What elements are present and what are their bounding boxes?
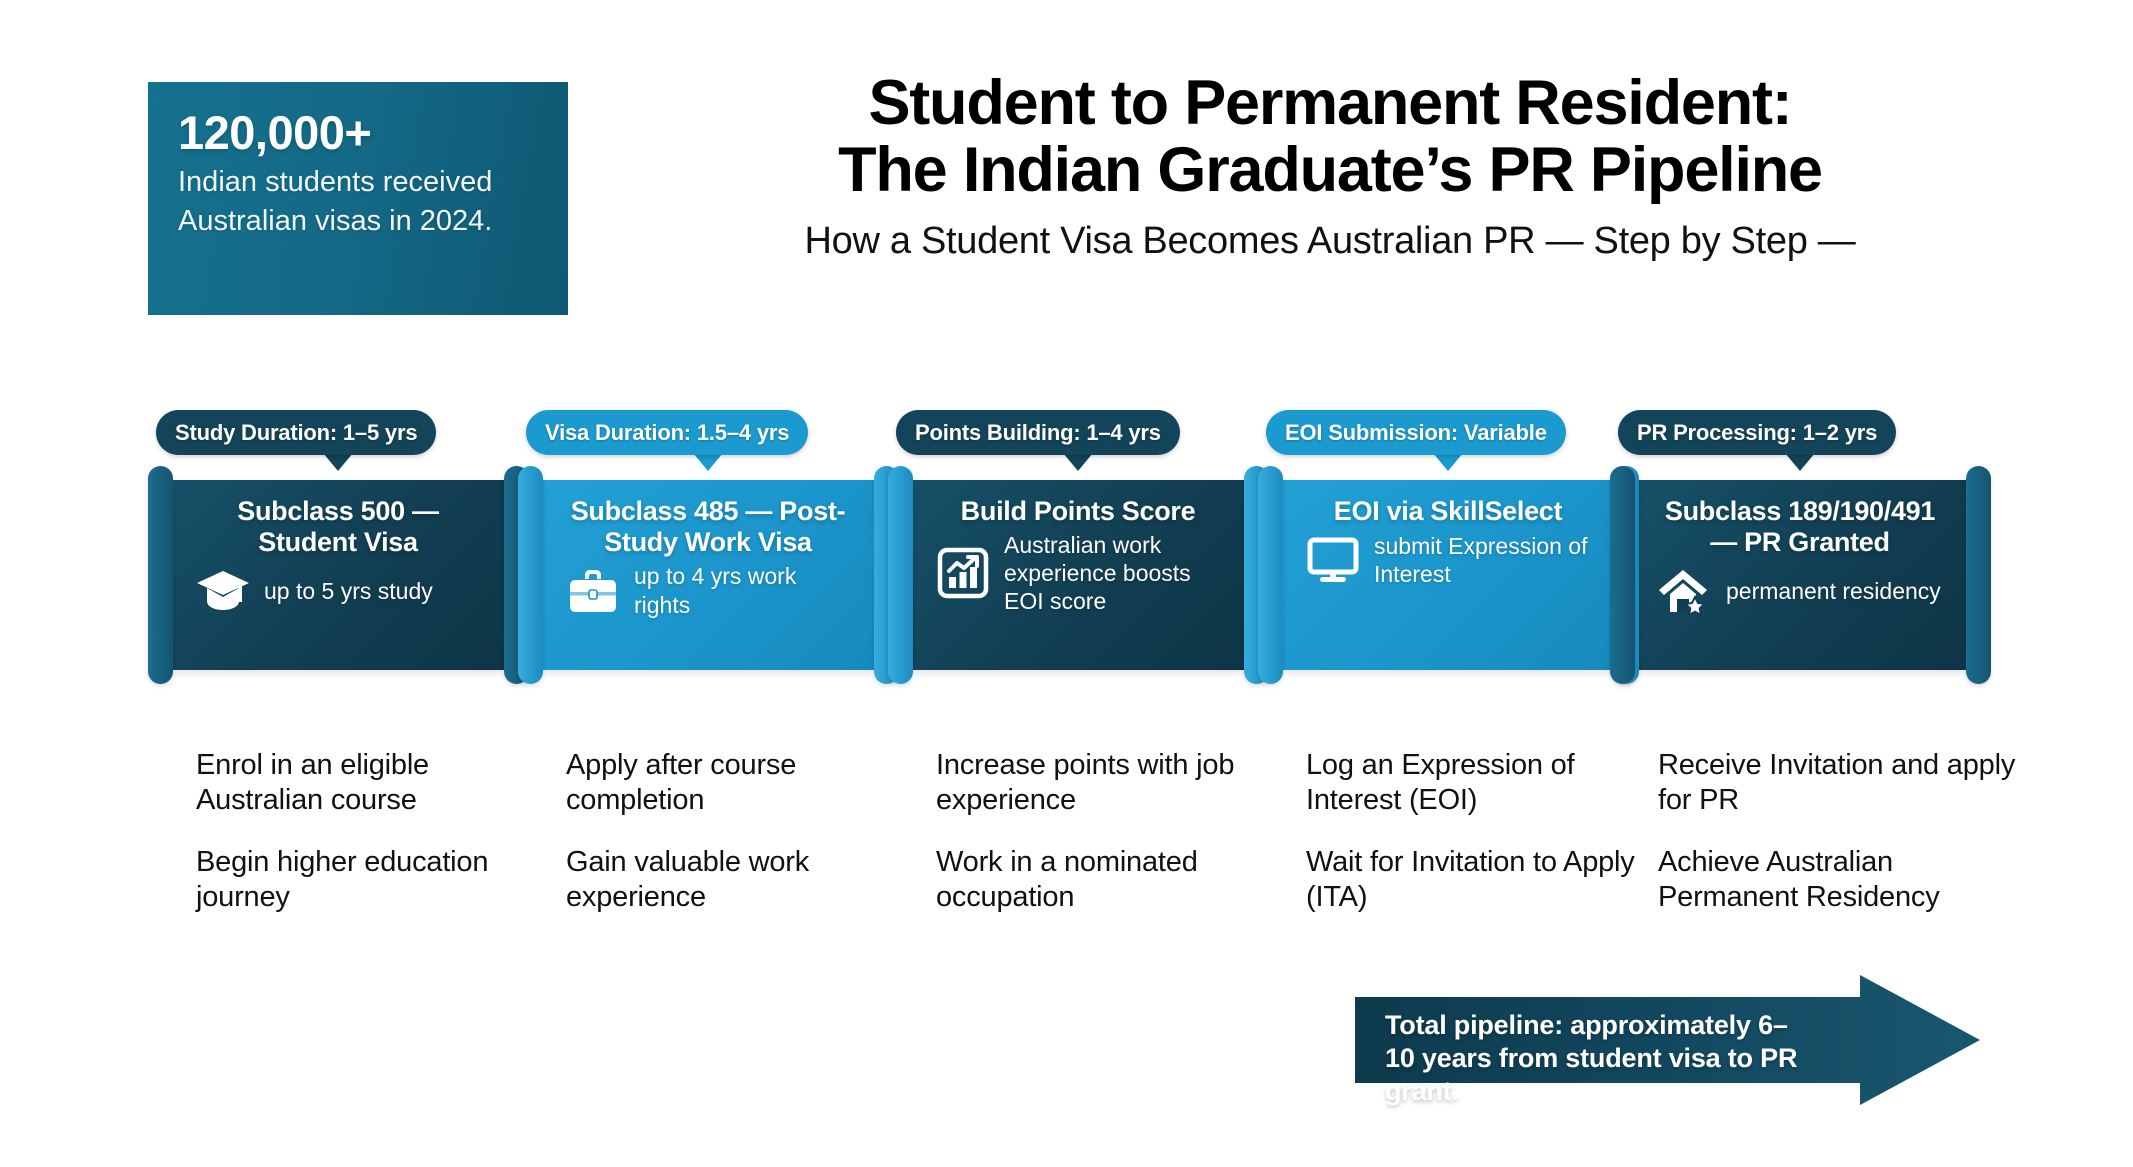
bar-chart-trend-icon [934,544,992,602]
title-block: Student to Permanent Resident: The India… [640,70,2020,264]
step-post-left [888,466,913,684]
step-duration-badge-label: Study Duration: 1–5 yrs [175,420,417,446]
step-card-detail: up to 4 yrs work rights [558,562,858,620]
step-card-detail: Australian work experience boosts EOI sc… [928,531,1228,615]
description-line-first: Increase points with job experience [936,748,1266,819]
step-duration-badge-label: PR Processing: 1–2 yrs [1637,420,1877,446]
step-card-subtext: up to 5 yrs study [264,577,433,605]
step-post-left [1258,466,1283,684]
step-description-column-2: Apply after course completion Gain valua… [566,748,896,916]
step-description-column-5: Receive Invitation and apply for PR Achi… [1658,748,2018,916]
page-title-line-2: The Indian Graduate’s PR Pipeline [640,137,2020,204]
step-card: Subclass 485 — Post-Study Work Visa up t… [542,480,874,670]
step-duration-badge-label: EOI Submission: Variable [1285,420,1547,446]
pipeline-step-3: Points Building: 1–4 yrs Build Points Sc… [888,410,1268,750]
briefcase-icon [564,562,622,620]
pipeline-step-5: PR Processing: 1–2 yrs Subclass 189/190/… [1610,410,1990,750]
page-subtitle: How a Student Visa Becomes Australian PR… [640,219,2020,265]
step-duration-badge-label: Points Building: 1–4 yrs [915,420,1161,446]
step-description-column-3: Increase points with job experience Work… [936,748,1266,916]
step-duration-badge: PR Processing: 1–2 yrs [1618,410,1896,455]
step-duration-badge: Visa Duration: 1.5–4 yrs [526,410,808,455]
pipeline-step-2: Visa Duration: 1.5–4 yrs Subclass 485 — … [518,410,898,750]
step-card: Subclass 189/190/491 — PR Granted perman… [1634,480,1966,670]
description-line-first: Receive Invitation and apply for PR [1658,748,2018,819]
description-line-first: Enrol in an eligible Australian course [196,748,526,819]
total-pipeline-text: Total pipeline: approximately 6–10 years… [1385,1009,1815,1108]
header: 120,000+ Indian students received Austra… [0,0,2133,330]
description-line-second: Gain valuable work experience [566,845,896,916]
step-post-left [148,466,173,684]
step-duration-badge: Points Building: 1–4 yrs [896,410,1180,455]
graduation-cap-icon [194,562,252,620]
step-card-subtext: permanent residency [1726,577,1941,605]
step-card-title: Build Points Score [961,496,1196,527]
step-card-detail: submit Expression of Interest [1298,531,1598,589]
step-card: EOI via SkillSelect submit Expression of… [1282,480,1614,670]
step-post-right [1966,466,1991,684]
description-line-second: Achieve Australian Permanent Residency [1658,845,2018,916]
step-card-title: Subclass 485 — Post-Study Work Visa [558,496,858,558]
pipeline-step-1: Study Duration: 1–5 yrs Subclass 500 — S… [148,410,528,750]
pipeline-steps: Study Duration: 1–5 yrs Subclass 500 — S… [148,410,1990,750]
step-badge-tail [1785,453,1815,471]
description-line-second: Begin higher education journey [196,845,526,916]
step-description-column-4: Log an Expression of Interest (EOI) Wait… [1306,748,1636,916]
step-badge-tail [693,453,723,471]
stat-caption: Indian students received Australian visa… [178,163,538,240]
step-card-title: EOI via SkillSelect [1334,496,1562,527]
stat-number: 120,000+ [178,108,538,157]
step-card-subtext: submit Expression of Interest [1374,532,1598,588]
step-duration-badge-label: Visa Duration: 1.5–4 yrs [545,420,789,446]
house-star-icon [1656,562,1714,620]
step-card-title: Subclass 189/190/491 — PR Granted [1650,496,1950,558]
total-pipeline-banner: Total pipeline: approximately 6–10 years… [1355,975,1980,1105]
description-line-second: Work in a nominated occupation [936,845,1266,916]
description-line-second: Wait for Invitation to Apply (ITA) [1306,845,1636,916]
step-duration-badge: EOI Submission: Variable [1266,410,1566,455]
stat-highlight-box: 120,000+ Indian students received Austra… [148,82,568,315]
step-card-title: Subclass 500 — Student Visa [188,496,488,558]
description-line-first: Apply after course completion [566,748,896,819]
step-card-detail: permanent residency [1650,562,1950,620]
page-title-line-1: Student to Permanent Resident: [640,70,2020,137]
step-card-subtext: up to 4 yrs work rights [634,562,858,618]
step-post-left [1610,466,1635,684]
step-card: Build Points Score Australian work exper… [912,480,1244,670]
step-card-detail: up to 5 yrs study [188,562,488,620]
step-badge-tail [1433,453,1463,471]
pipeline-step-4: EOI Submission: Variable EOI via SkillSe… [1258,410,1638,750]
step-card-subtext: Australian work experience boosts EOI sc… [1004,531,1228,615]
step-descriptions: Enrol in an eligible Australian course B… [148,748,2028,938]
step-badge-tail [1063,453,1093,471]
step-card: Subclass 500 — Student Visa up to 5 yrs … [172,480,504,670]
description-line-first: Log an Expression of Interest (EOI) [1306,748,1636,819]
monitor-icon [1304,531,1362,589]
step-post-left [518,466,543,684]
step-description-column-1: Enrol in an eligible Australian course B… [196,748,526,916]
step-badge-tail [323,453,353,471]
step-duration-badge: Study Duration: 1–5 yrs [156,410,436,455]
